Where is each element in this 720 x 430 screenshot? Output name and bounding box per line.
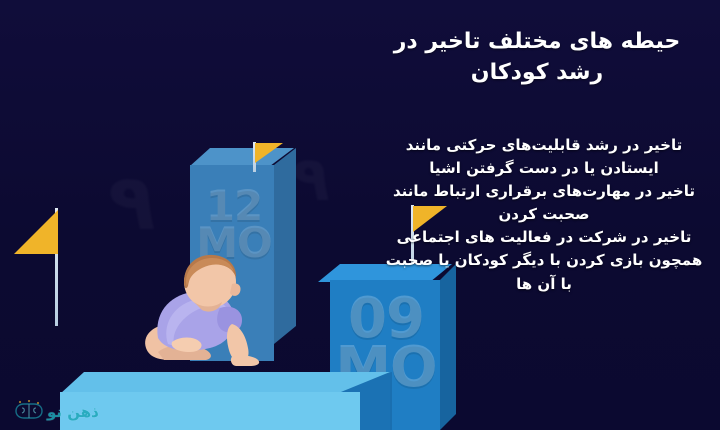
- block-12-months-label: 12 MO: [196, 188, 272, 262]
- body-text-block: تاخیر در رشد قابلیت‌های حرکتی مانند ایست…: [384, 134, 704, 296]
- bottom-step-front: [60, 392, 360, 430]
- crawling-baby-illustration: [128, 252, 278, 380]
- page-title: حیطه های مختلف تاخیر در رشد کودکان: [372, 26, 702, 88]
- page-title-line-1: حیطه های مختلف تاخیر در: [372, 26, 702, 57]
- brand-name: ذهن نو: [47, 403, 99, 421]
- body-paragraph: تاخیر در شرکت در فعالیت های اجتماعی همچو…: [384, 226, 704, 295]
- body-paragraph: تاخیر در مهارت‌های برقراری ارتباط مانند …: [384, 180, 704, 226]
- page-title-line-2: رشد کودکان: [372, 57, 702, 88]
- infographic-canvas: ۹ ۹ 12 MO 09 MO: [0, 0, 720, 430]
- body-paragraph: تاخیر در رشد قابلیت‌های حرکتی مانند ایست…: [384, 134, 704, 180]
- ghost-glyph-mid: ۹: [292, 142, 330, 215]
- brand-watermark: ذهن نو: [14, 398, 99, 426]
- ghost-glyph-left: ۹: [108, 158, 156, 248]
- flag-middle-icon: [255, 143, 283, 163]
- flag-left-icon: [14, 210, 58, 254]
- bottom-step-top: [60, 372, 390, 394]
- brain-icon: [14, 400, 44, 424]
